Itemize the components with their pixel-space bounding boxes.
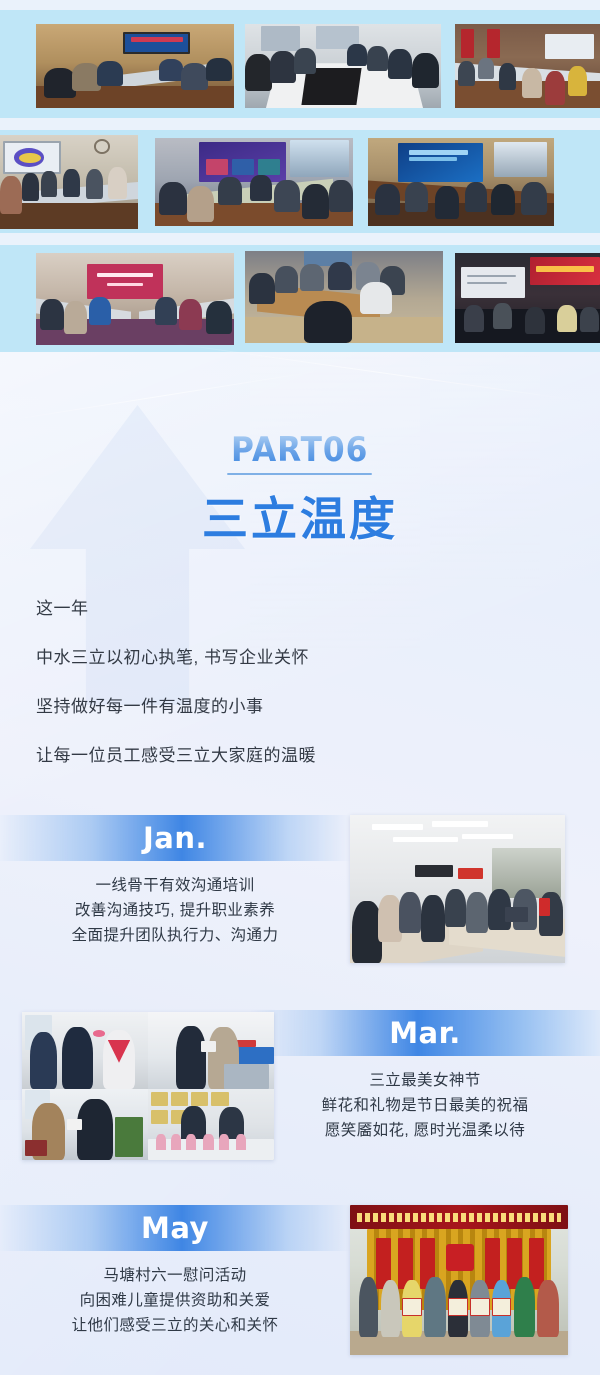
section-title-block: PART06 三立温度	[0, 430, 600, 549]
section-jan: Jan. 一线骨干有效沟通培训 改善沟通技巧, 提升职业素养 全面提升团队执行力…	[0, 815, 600, 975]
intro-line: 坚持做好每一件有温度的小事	[36, 698, 556, 715]
intro-line: 这一年	[36, 600, 556, 617]
photo-jan	[350, 815, 565, 963]
photo-row3-2	[245, 251, 443, 343]
description-jan: 一线骨干有效沟通培训 改善沟通技巧, 提升职业素养 全面提升团队执行力、沟通力	[0, 873, 350, 948]
collage-cell	[148, 1012, 274, 1089]
description-line: 全面提升团队执行力、沟通力	[0, 923, 350, 948]
collage-cell	[22, 1089, 148, 1160]
banner-led-text	[357, 1213, 562, 1222]
photo-row3-3	[455, 253, 600, 343]
description-line: 向困难儿童提供资助和关爱	[0, 1288, 350, 1313]
collage-cell	[22, 1012, 148, 1089]
intro-line: 让每一位员工感受三立大家庭的温暖	[36, 747, 556, 764]
description-mar: 三立最美女神节 鲜花和礼物是节日最美的祝福 愿笑靥如花, 愿时光温柔以待	[250, 1068, 600, 1143]
description-line: 愿笑靥如花, 愿时光温柔以待	[250, 1118, 600, 1143]
photo-mar-collage	[22, 1012, 274, 1160]
photo-row1-3	[455, 24, 600, 108]
photo-row2-1	[0, 135, 138, 229]
photo-row1-2	[245, 24, 441, 108]
intro-paragraph: 这一年 中水三立以初心执笔, 书写企业关怀 坚持做好每一件有温度的小事 让每一位…	[36, 600, 556, 796]
photo-row2-3	[368, 138, 554, 226]
description-line: 马塘村六一慰问活动	[0, 1263, 350, 1288]
description-line: 改善沟通技巧, 提升职业素养	[0, 898, 350, 923]
month-label-mar: Mar.	[250, 1010, 600, 1056]
section-mar: Mar. 三立最美女神节 鲜花和礼物是节日最美的祝福 愿笑靥如花, 愿时光温柔以…	[0, 1010, 600, 1170]
description-line: 一线骨干有效沟通培训	[0, 873, 350, 898]
poster-page: PART06 三立温度 这一年 中水三立以初心执笔, 书写企业关怀 坚持做好每一…	[0, 0, 600, 1375]
photo-row2-2	[155, 138, 353, 226]
photo-row1-1	[36, 24, 234, 108]
description-line: 让他们感受三立的关心和关怀	[0, 1313, 350, 1338]
photo-may	[350, 1205, 568, 1355]
description-line: 三立最美女神节	[250, 1068, 600, 1093]
description-line: 鲜花和礼物是节日最美的祝福	[250, 1093, 600, 1118]
month-label-jan: Jan.	[0, 815, 350, 861]
description-may: 马塘村六一慰问活动 向困难儿童提供资助和关爱 让他们感受三立的关心和关怀	[0, 1263, 350, 1338]
collage-cell	[148, 1089, 274, 1160]
intro-line: 中水三立以初心执笔, 书写企业关怀	[36, 649, 556, 666]
photo-row3-1	[36, 253, 234, 345]
part-number: PART06	[228, 430, 373, 475]
section-may: May 马塘村六一慰问活动 向困难儿童提供资助和关爱 让他们感受三立的关心和关怀	[0, 1205, 600, 1365]
meeting-photo-grid	[0, 0, 600, 356]
month-label-may: May	[0, 1205, 350, 1251]
page-title: 三立温度	[0, 483, 600, 549]
